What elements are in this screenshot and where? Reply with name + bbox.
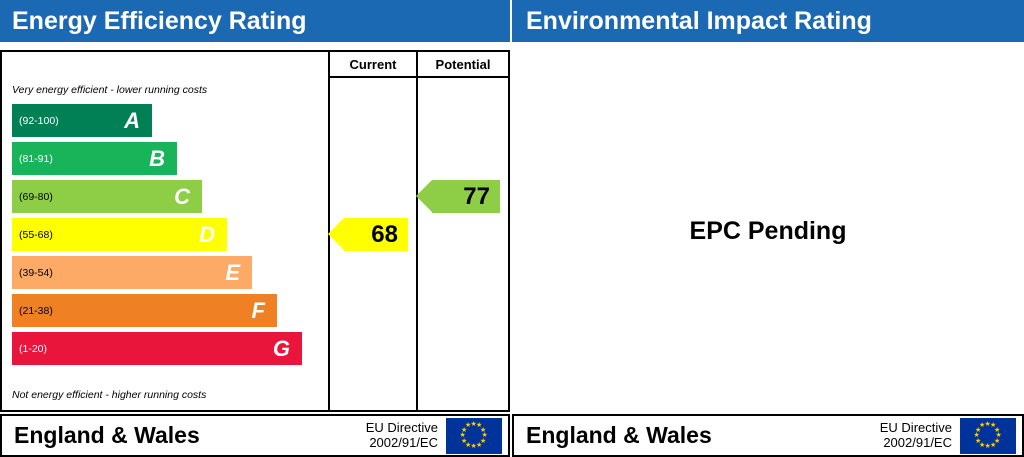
footer-directive-left: EU Directive 2002/91/EC <box>366 421 446 451</box>
band-letter-a: A <box>124 108 140 134</box>
footer-directive-line2-left: 2002/91/EC <box>366 436 438 451</box>
column-header-current-label: Current <box>350 57 397 72</box>
footer-right: England & Wales EU Directive 2002/91/EC … <box>512 414 1024 457</box>
band-row-f: (21-38) F <box>12 294 277 327</box>
energy-efficiency-chart: Current Potential Very energy efficient … <box>0 50 510 412</box>
environmental-impact-header: Environmental Impact Rating <box>512 0 1024 42</box>
band-row-e: (39-54) E <box>12 256 252 289</box>
note-very-efficient: Very energy efficient - lower running co… <box>12 84 207 96</box>
environmental-impact-chart: EPC Pending <box>512 50 1024 412</box>
band-letter-f: F <box>252 298 265 324</box>
band-range-a: (92-100) <box>19 115 59 127</box>
band-range-e: (39-54) <box>19 267 53 279</box>
column-header-current: Current <box>328 52 416 78</box>
potential-rating-marker: 77 <box>432 180 500 213</box>
band-row-d: (55-68) D <box>12 218 227 251</box>
band-range-f: (21-38) <box>19 305 53 317</box>
band-letter-c: C <box>174 184 190 210</box>
energy-efficiency-header: Energy Efficiency Rating <box>0 0 510 42</box>
band-row-c: (69-80) C <box>12 180 202 213</box>
footer-directive-line2-right: 2002/91/EC <box>880 436 952 451</box>
band-letter-b: B <box>149 146 165 172</box>
band-letter-d: D <box>199 222 215 248</box>
energy-efficiency-title: Energy Efficiency Rating <box>12 7 307 36</box>
footer-directive-line1-right: EU Directive <box>880 421 952 436</box>
eu-flag-icon: ★★★★★★★★★★★★ <box>446 418 502 454</box>
eu-flag-icon: ★★★★★★★★★★★★ <box>960 418 1016 454</box>
band-range-d: (55-68) <box>19 229 53 241</box>
footer-country-left: England & Wales <box>2 422 366 449</box>
footer-left: England & Wales EU Directive 2002/91/EC … <box>0 414 510 457</box>
band-letter-g: G <box>273 336 290 362</box>
footer-directive-line1-left: EU Directive <box>366 421 438 436</box>
current-rating-value: 68 <box>371 221 398 249</box>
band-row-g: (1-20) G <box>12 332 302 365</box>
band-letter-e: E <box>225 260 240 286</box>
environmental-impact-title: Environmental Impact Rating <box>526 7 872 36</box>
column-header-potential-label: Potential <box>436 57 491 72</box>
band-range-g: (1-20) <box>19 343 47 355</box>
current-rating-marker: 68 <box>344 218 408 251</box>
epc-pending-message: EPC Pending <box>512 50 1024 412</box>
band-range-b: (81-91) <box>19 153 53 165</box>
band-range-c: (69-80) <box>19 191 53 203</box>
epc-graphic: Energy Efficiency Rating Environmental I… <box>0 0 1024 457</box>
note-not-efficient: Not energy efficient - higher running co… <box>12 389 206 401</box>
potential-rating-value: 77 <box>463 183 490 211</box>
column-header-potential: Potential <box>416 52 508 78</box>
footer-country-right: England & Wales <box>514 422 880 449</box>
band-bars: (92-100) A (81-91) B (69-80) C (55-68) D… <box>12 104 324 370</box>
footer-directive-right: EU Directive 2002/91/EC <box>880 421 960 451</box>
divider-potential <box>416 78 418 412</box>
band-row-b: (81-91) B <box>12 142 177 175</box>
band-row-a: (92-100) A <box>12 104 152 137</box>
